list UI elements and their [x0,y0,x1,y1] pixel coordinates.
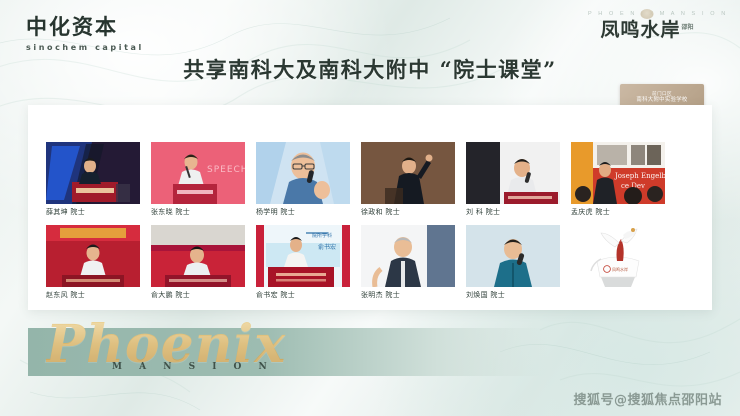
photo-cell[interactable]: 徐政和 院士 [361,142,455,217]
phoenix-tagline-text: P H O E N I X M A N S I O N [588,11,728,17]
svg-text:SPEECH: SPEECH [207,165,245,175]
academician-photo: SPEECH [151,142,245,204]
photo-caption: 刘 科 院士 [466,207,560,217]
academician-photo [151,225,245,287]
phoenix-seal-icon [641,9,654,19]
slide-root: 中化资本 sinochem capital P H O E N I X M A … [0,0,740,416]
phoenix-mansion-tagline: P H O E N I X M A N S I O N [588,8,706,20]
phoenix-mansion-text: M A N S I O N [112,362,274,372]
academician-photo [466,225,560,287]
photo-cell[interactable]: 俞大鹏 院士 [151,225,245,300]
photo-caption: 徐政和 院士 [361,207,455,217]
photo-cell[interactable]: 刘焕国 院士 [466,225,560,300]
academician-photo [466,142,560,204]
phoenix-sculpture-icon: 凤鸣水岸 [571,225,665,287]
photo-caption: 孟庆虎 院士 [571,207,665,217]
phoenix-name-cn: 凤鸣水岸 [600,19,680,41]
svg-text:Joseph Engelb: Joseph Engelb [614,172,665,180]
photo-cell[interactable]: 张明杰 院士 [361,225,455,300]
photo-cell[interactable]: 杨学明 院士 [256,142,350,217]
photo-cell[interactable]: SPEECH 张东晓 院士 [151,142,245,217]
phoenix-mansion-name: 凤鸣水岸邵阳 [588,20,706,41]
svg-text:院所学科: 院所学科 [312,232,332,239]
sinochem-logo-en: sinochem capital [26,43,144,52]
photo-row: 薛其坤 院士 SPEECH 张东晓 院士 [46,142,696,217]
academician-photo [256,142,350,204]
photo-caption: 俞书宏 院士 [256,290,350,300]
page-title: 共享南科大及南科大附中 “院士课堂” [0,54,740,84]
academician-photo [46,142,140,204]
phoenix-banner: Phoenix M A N S I O N [28,328,548,376]
sinochem-logo: 中化资本 sinochem capital [26,16,144,52]
academician-photo [361,142,455,204]
photo-cell[interactable]: Joseph Engelb ce Dev 孟庆虎 院士 [571,142,665,217]
academician-photo: 院所学科 俞书宏 [256,225,350,287]
photo-cell[interactable]: 薛其坤 院士 [46,142,140,217]
academician-photo-grid: 薛其坤 院士 SPEECH 张东晓 院士 [46,142,696,308]
school-badge-line2: 南科大附中实验学校 [636,97,687,103]
academician-photo [361,225,455,287]
photo-caption: 杨学明 院士 [256,207,350,217]
photo-cell[interactable]: 刘 科 院士 [466,142,560,217]
academician-photo: Joseph Engelb ce Dev [571,142,665,204]
photo-caption: 张明杰 院士 [361,290,455,300]
photo-caption: 赵东风 院士 [46,290,140,300]
photo-caption: 张东晓 院士 [151,207,245,217]
photo-caption: 刘焕国 院士 [466,290,560,300]
phoenix-name-suffix: 邵阳 [682,24,694,31]
svg-text:凤鸣水岸: 凤鸣水岸 [612,266,628,272]
photo-cell: 凤鸣水岸 [571,225,665,290]
photo-caption: 薛其坤 院士 [46,207,140,217]
svg-text:俞书宏: 俞书宏 [318,243,336,251]
photo-cell[interactable]: 赵东风 院士 [46,225,140,300]
sinochem-logo-cn: 中化资本 [26,16,144,39]
photo-caption: 俞大鹏 院士 [151,290,245,300]
academician-photo [46,225,140,287]
photo-cell[interactable]: 院所学科 俞书宏 俞书宏 院士 [256,225,350,300]
phoenix-mansion-logo: P H O E N I X M A N S I O N 凤鸣水岸邵阳 [588,8,706,41]
photo-row: 赵东风 院士 俞大鹏 院士 [46,225,696,300]
sohu-watermark: 搜狐号@搜狐焦点邵阳站 [573,389,722,408]
